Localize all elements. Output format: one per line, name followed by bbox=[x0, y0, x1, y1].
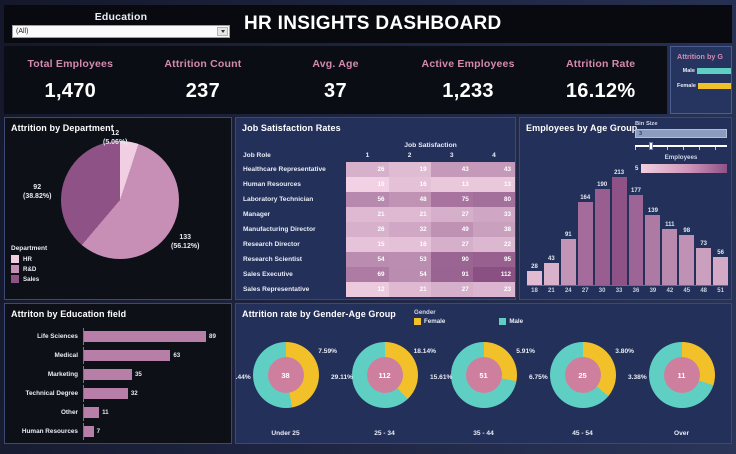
heatmap-cell[interactable]: 69 bbox=[346, 267, 388, 282]
axis-tick-label: 24 bbox=[561, 286, 576, 299]
bar-value-label: 28 bbox=[527, 264, 542, 270]
donut-chart[interactable]: 25 bbox=[550, 342, 616, 408]
bar[interactable] bbox=[595, 189, 610, 285]
bar-column[interactable]: 73 bbox=[696, 148, 711, 285]
bin-size-value[interactable]: 3 bbox=[635, 129, 727, 138]
bar-value-label: 56 bbox=[713, 250, 728, 256]
kpi-value: 1,470 bbox=[4, 80, 137, 103]
axis-tick-label: 27 bbox=[578, 286, 593, 299]
donut-cell: 256.75%3.80%45 - 54 bbox=[533, 328, 632, 443]
legend-label: Male bbox=[509, 318, 523, 325]
bar-column[interactable]: 43 bbox=[544, 148, 559, 285]
table-row: Manager21212733 bbox=[241, 207, 515, 222]
attrition-by-education-panel: Attriton by Education field Life Science… bbox=[4, 303, 232, 444]
bar-column[interactable]: 139 bbox=[645, 148, 660, 285]
legend-swatch bbox=[414, 318, 421, 325]
job-role-label: Manager bbox=[241, 207, 346, 222]
axis-tick-label: 36 bbox=[629, 286, 644, 299]
heatmap-cell[interactable]: 22 bbox=[473, 237, 515, 252]
column-header-satisfaction: 1 bbox=[346, 152, 388, 162]
pie-label-percent: (5.06%) bbox=[103, 138, 128, 147]
heatmap-cell[interactable]: 49 bbox=[431, 222, 473, 237]
heatmap-cell[interactable]: 38 bbox=[473, 222, 515, 237]
heatmap-cell[interactable]: 21 bbox=[389, 207, 431, 222]
legend-label: HR bbox=[23, 256, 32, 263]
heatmap-cell[interactable]: 19 bbox=[389, 162, 431, 177]
heatmap-cell[interactable]: 13 bbox=[431, 177, 473, 192]
bar-column[interactable]: 28 bbox=[527, 148, 542, 285]
pie-label-value: 92 bbox=[23, 183, 51, 192]
heatmap-cell[interactable]: 43 bbox=[473, 162, 515, 177]
age-group-axis: 182124273033363942454851 bbox=[527, 285, 728, 299]
education-bar-value: 7 bbox=[97, 428, 100, 435]
education-bar-row[interactable]: Medical63 bbox=[9, 347, 227, 364]
table-row: Research Scientist54539095 bbox=[241, 252, 515, 267]
pie-label-rd: 133(56.12%) bbox=[171, 233, 199, 252]
education-category-label: Medical bbox=[9, 352, 83, 359]
job-role-label: Laboratory Technician bbox=[241, 192, 346, 207]
legend-swatch bbox=[11, 265, 19, 273]
age-group-bars: 284391164190213177139111987356 bbox=[527, 148, 728, 285]
kpi-card: Total Employees1,470 bbox=[4, 58, 137, 103]
gender-bar[interactable] bbox=[697, 68, 731, 74]
education-bar-track: 89 bbox=[83, 328, 227, 345]
slider-tick bbox=[731, 147, 732, 150]
gender-legend-item[interactable]: Male bbox=[499, 318, 523, 325]
table-row: Human Resources10161313 bbox=[241, 177, 515, 192]
bar[interactable] bbox=[696, 248, 711, 285]
pie-label-sales: 92(38.82%) bbox=[23, 183, 51, 202]
heatmap-cell[interactable]: 90 bbox=[431, 252, 473, 267]
heatmap-cell[interactable]: 21 bbox=[389, 282, 431, 297]
job-role-label: Healthcare Representative bbox=[241, 162, 346, 177]
education-bar-chart: Life Sciences89Medical63Marketing35Techn… bbox=[9, 328, 227, 435]
job-satisfaction-title: Job Satisfaction Rates bbox=[236, 118, 515, 133]
job-role-label: Research Director bbox=[241, 237, 346, 252]
job-role-label: Sales Executive bbox=[241, 267, 346, 282]
heatmap-cell[interactable]: 33 bbox=[473, 207, 515, 222]
education-category-label: Human Resources bbox=[9, 428, 83, 435]
dashboard-header: Education (All) HR INSIGHTS DASHBOARD bbox=[4, 5, 732, 43]
education-bar-track: 11 bbox=[83, 404, 227, 421]
heatmap-cell[interactable]: 54 bbox=[389, 267, 431, 282]
axis-tick-label: 48 bbox=[696, 286, 711, 299]
bin-size-label: Bin Size bbox=[635, 121, 727, 127]
bar-value-label: 73 bbox=[696, 241, 711, 247]
column-header-satisfaction: 3 bbox=[431, 152, 473, 162]
bar[interactable] bbox=[561, 239, 576, 285]
kpi-card: Avg. Age37 bbox=[269, 58, 402, 103]
bar[interactable] bbox=[612, 177, 627, 285]
donut-male-percent: 8.44% bbox=[235, 374, 251, 381]
bar-value-label: 213 bbox=[612, 170, 627, 176]
job-satisfaction-panel: Job Satisfaction Rates Job Satisfaction … bbox=[235, 117, 516, 300]
donut-category-label: 35 - 44 bbox=[434, 430, 533, 437]
legend-swatch bbox=[11, 255, 19, 263]
bar[interactable] bbox=[578, 202, 593, 285]
legend-swatch bbox=[11, 275, 19, 283]
education-category-label: Other bbox=[9, 409, 83, 416]
bar-column[interactable]: 190 bbox=[595, 148, 610, 285]
pie-label-hr: 12(5.06%) bbox=[103, 129, 128, 148]
education-bar-row[interactable]: Human Resources7 bbox=[9, 423, 227, 440]
heatmap-cell[interactable]: 27 bbox=[431, 207, 473, 222]
bar-value-label: 139 bbox=[645, 208, 660, 214]
bar-value-label: 43 bbox=[544, 256, 559, 262]
donut-chart[interactable]: 112 bbox=[352, 342, 418, 408]
education-bar-value: 35 bbox=[135, 371, 142, 378]
department-legend-item[interactable]: HR bbox=[11, 255, 47, 263]
education-bar-track: 7 bbox=[83, 423, 227, 440]
education-bar[interactable] bbox=[84, 407, 99, 418]
bar[interactable] bbox=[629, 195, 644, 285]
heatmap-cell[interactable]: 13 bbox=[473, 177, 515, 192]
job-satisfaction-table: Job Role1234 Healthcare Representative26… bbox=[241, 152, 515, 297]
heatmap-cell[interactable]: 48 bbox=[389, 192, 431, 207]
donut-female-percent: 18.14% bbox=[414, 348, 436, 355]
donut-chart[interactable]: 51 bbox=[451, 342, 517, 408]
table-row: Manufacturing Director26324938 bbox=[241, 222, 515, 237]
heatmap-cell[interactable]: 27 bbox=[431, 237, 473, 252]
column-header-satisfaction: 2 bbox=[389, 152, 431, 162]
education-bar[interactable] bbox=[84, 331, 206, 342]
donut-center-value: 38 bbox=[268, 357, 304, 393]
gender-legend-title: Gender bbox=[414, 309, 523, 316]
donut-cell: 11229.11%18.14%25 - 34 bbox=[335, 328, 434, 443]
bar-value-label: 91 bbox=[561, 232, 576, 238]
heatmap-cell[interactable]: 32 bbox=[389, 222, 431, 237]
education-bar-track: 32 bbox=[83, 385, 227, 402]
education-bar-row[interactable]: Technical Degree32 bbox=[9, 385, 227, 402]
heatmap-cell[interactable]: 112 bbox=[473, 267, 515, 282]
kpi-card: Active Employees1,233 bbox=[402, 58, 535, 103]
heatmap-cell[interactable]: 53 bbox=[389, 252, 431, 267]
donut-cell: 113.38%Over bbox=[632, 328, 731, 443]
kpi-value: 237 bbox=[137, 80, 270, 103]
education-bar-value: 89 bbox=[209, 333, 216, 340]
gender-age-group-panel: Attrition rate by Gender-Age Group Gende… bbox=[235, 303, 732, 444]
donut-center-value: 25 bbox=[565, 357, 601, 393]
gender-bar-label: Female bbox=[677, 83, 696, 89]
heatmap-cell[interactable]: 16 bbox=[389, 177, 431, 192]
heatmap-cell[interactable]: 91 bbox=[431, 267, 473, 282]
donut-chart[interactable]: 11 bbox=[649, 342, 715, 408]
bar-value-label: 111 bbox=[662, 222, 677, 228]
bar-value-label: 190 bbox=[595, 182, 610, 188]
middle-row: Attrition by Department 12(5.06%) 92(38.… bbox=[4, 117, 732, 300]
gender-bar[interactable] bbox=[698, 83, 731, 89]
axis-tick-label: 45 bbox=[679, 286, 694, 299]
bar-value-label: 177 bbox=[629, 188, 644, 194]
education-bar-value: 63 bbox=[173, 352, 180, 359]
job-role-label: Manufacturing Director bbox=[241, 222, 346, 237]
attrition-by-department-panel: Attrition by Department 12(5.06%) 92(38.… bbox=[4, 117, 232, 300]
bar[interactable] bbox=[679, 235, 694, 285]
gender-bar-row: Male bbox=[677, 68, 731, 74]
bar-column[interactable]: 164 bbox=[578, 148, 593, 285]
education-category-label: Marketing bbox=[9, 371, 83, 378]
heatmap-cell[interactable]: 56 bbox=[346, 192, 388, 207]
education-bar-value: 11 bbox=[102, 409, 109, 416]
table-row: Healthcare Representative26194343 bbox=[241, 162, 515, 177]
donut-chart[interactable]: 38 bbox=[253, 342, 319, 408]
chevron-down-icon[interactable] bbox=[217, 27, 228, 36]
legend-swatch bbox=[499, 318, 506, 325]
bin-size-control[interactable]: Bin Size 3 bbox=[635, 121, 727, 150]
donut-male-percent: 3.38% bbox=[628, 374, 647, 381]
education-bar[interactable] bbox=[84, 426, 94, 437]
axis-tick-label: 33 bbox=[612, 286, 627, 299]
kpi-card: Attrition Rate16.12% bbox=[534, 58, 667, 103]
heatmap-cell[interactable]: 16 bbox=[389, 237, 431, 252]
education-bar-row[interactable]: Other11 bbox=[9, 404, 227, 421]
kpi-label: Total Employees bbox=[4, 58, 137, 70]
bottom-row: Attriton by Education field Life Science… bbox=[4, 303, 732, 444]
bar-value-label: 164 bbox=[578, 195, 593, 201]
education-select[interactable]: (All) bbox=[12, 25, 230, 38]
page-title: HR INSIGHTS DASHBOARD bbox=[244, 13, 502, 35]
kpi-band: Total Employees1,470Attrition Count237Av… bbox=[4, 46, 667, 114]
column-header-job-role: Job Role bbox=[241, 152, 346, 162]
kpi-value: 37 bbox=[269, 80, 402, 103]
kpi-label: Active Employees bbox=[402, 58, 535, 70]
department-legend-item[interactable]: Sales bbox=[11, 275, 47, 283]
table-row: Research Director15162722 bbox=[241, 237, 515, 252]
pie-label-value: 133 bbox=[171, 233, 199, 242]
gender-bar-row: Female bbox=[677, 83, 731, 89]
department-legend-item[interactable]: R&D bbox=[11, 265, 47, 273]
axis-tick-label: 39 bbox=[645, 286, 660, 299]
job-role-label: Human Resources bbox=[241, 177, 346, 192]
heatmap-cell[interactable]: 12 bbox=[346, 282, 388, 297]
education-bar[interactable] bbox=[84, 369, 132, 380]
employees-by-age-group-panel: Employees by Age Group Bin Size 3 Employ… bbox=[519, 117, 732, 300]
heatmap-cell[interactable]: 23 bbox=[473, 282, 515, 297]
donut-category-label: 25 - 34 bbox=[335, 430, 434, 437]
gender-bar-label: Male bbox=[677, 68, 695, 74]
bar[interactable] bbox=[544, 263, 559, 285]
axis-tick-label: 51 bbox=[713, 286, 728, 299]
legend-label: Sales bbox=[23, 276, 39, 283]
bar-column[interactable]: 111 bbox=[662, 148, 677, 285]
gender-legend-item[interactable]: Female bbox=[414, 318, 445, 325]
pie-label-value: 12 bbox=[103, 129, 128, 138]
donut-cell: 5115.61%5.91%35 - 44 bbox=[434, 328, 533, 443]
education-filter-label: Education bbox=[12, 11, 230, 23]
heatmap-cell[interactable]: 15 bbox=[346, 237, 388, 252]
bar[interactable] bbox=[662, 229, 677, 285]
education-bar[interactable] bbox=[84, 388, 128, 399]
axis-tick-label: 21 bbox=[544, 286, 559, 299]
bar-column[interactable]: 56 bbox=[713, 148, 728, 285]
education-bar[interactable] bbox=[84, 350, 170, 361]
department-legend-title: Department bbox=[11, 245, 47, 252]
donut-category-label: Over bbox=[632, 430, 731, 437]
bar-column[interactable]: 98 bbox=[679, 148, 694, 285]
education-bar-track: 35 bbox=[83, 366, 227, 383]
job-role-label: Research Scientist bbox=[241, 252, 346, 267]
kpi-label: Attrition Rate bbox=[534, 58, 667, 70]
heatmap-cell[interactable]: 26 bbox=[346, 222, 388, 237]
column-header-satisfaction: 4 bbox=[473, 152, 515, 162]
kpi-value: 16.12% bbox=[534, 80, 667, 103]
heatmap-cell[interactable]: 26 bbox=[346, 162, 388, 177]
education-select-value: (All) bbox=[13, 26, 28, 37]
attrition-by-gender-panel: Attrition by G MaleFemale bbox=[670, 46, 732, 114]
axis-tick-label: 42 bbox=[662, 286, 677, 299]
heatmap-cell[interactable]: 43 bbox=[431, 162, 473, 177]
bar-column[interactable]: 213 bbox=[612, 148, 627, 285]
education-bar-value: 32 bbox=[131, 390, 138, 397]
table-row: Laboratory Technician56487580 bbox=[241, 192, 515, 207]
pie-label-percent: (56.12%) bbox=[171, 242, 199, 251]
bar[interactable] bbox=[527, 271, 542, 285]
bar-column[interactable]: 91 bbox=[561, 148, 576, 285]
axis-tick-label: 18 bbox=[527, 286, 542, 299]
education-category-label: Technical Degree bbox=[9, 390, 83, 397]
table-row: Sales Executive695491112 bbox=[241, 267, 515, 282]
education-bar-row[interactable]: Marketing35 bbox=[9, 366, 227, 383]
donut-male-percent: 29.11% bbox=[331, 374, 353, 381]
donut-male-percent: 6.75% bbox=[529, 374, 548, 381]
bar[interactable] bbox=[645, 215, 660, 285]
heatmap-cell[interactable]: 27 bbox=[431, 282, 473, 297]
donut-center-value: 112 bbox=[367, 357, 403, 393]
donut-male-percent: 15.61% bbox=[430, 374, 452, 381]
heatmap-cell[interactable]: 95 bbox=[473, 252, 515, 267]
kpi-row: Total Employees1,470Attrition Count237Av… bbox=[4, 46, 732, 114]
education-category-label: Life Sciences bbox=[9, 333, 83, 340]
dashboard-root: Education (All) HR INSIGHTS DASHBOARD To… bbox=[0, 0, 736, 454]
pie-label-percent: (38.82%) bbox=[23, 192, 51, 201]
kpi-label: Attrition Count bbox=[137, 58, 270, 70]
department-pie-chart: 12(5.06%) 92(38.82%) 133(56.12%) Departm… bbox=[5, 133, 231, 291]
kpi-label: Avg. Age bbox=[269, 58, 402, 70]
donut-category-label: 45 - 54 bbox=[533, 430, 632, 437]
kpi-card: Attrition Count237 bbox=[137, 58, 270, 103]
pie-slices[interactable] bbox=[61, 141, 179, 259]
donut-center-value: 51 bbox=[466, 357, 502, 393]
legend-label: R&D bbox=[23, 266, 36, 273]
donut-cell: 388.44%7.59%Under 25 bbox=[236, 328, 335, 443]
department-legend: Department HRR&DSales bbox=[11, 245, 47, 285]
heatmap-cell[interactable]: 80 bbox=[473, 192, 515, 207]
heatmap-cell[interactable]: 75 bbox=[431, 192, 473, 207]
attrition-by-education-title: Attriton by Education field bbox=[5, 304, 231, 319]
donut-category-label: Under 25 bbox=[236, 430, 335, 437]
education-bar-track: 63 bbox=[83, 347, 227, 364]
attrition-by-gender-title: Attrition by G bbox=[677, 52, 731, 61]
heatmap-cell[interactable]: 10 bbox=[346, 177, 388, 192]
job-role-label: Sales Representative bbox=[241, 282, 346, 297]
gender-legend: Gender FemaleMale bbox=[414, 309, 523, 325]
bar-column[interactable]: 177 bbox=[629, 148, 644, 285]
kpi-value: 1,233 bbox=[402, 80, 535, 103]
legend-label: Female bbox=[424, 318, 445, 325]
donut-charts: 388.44%7.59%Under 2511229.11%18.14%25 - … bbox=[236, 328, 731, 443]
job-satisfaction-group-header: Job Satisfaction bbox=[348, 142, 513, 149]
bar[interactable] bbox=[713, 257, 728, 285]
education-bar-row[interactable]: Life Sciences89 bbox=[9, 328, 227, 345]
bar-value-label: 98 bbox=[679, 228, 694, 234]
donut-center-value: 11 bbox=[664, 357, 700, 393]
axis-tick-label: 30 bbox=[595, 286, 610, 299]
table-row: Sales Representative12212723 bbox=[241, 282, 515, 297]
heatmap-cell[interactable]: 54 bbox=[346, 252, 388, 267]
education-filter[interactable]: Education (All) bbox=[12, 11, 230, 38]
heatmap-cell[interactable]: 21 bbox=[346, 207, 388, 222]
